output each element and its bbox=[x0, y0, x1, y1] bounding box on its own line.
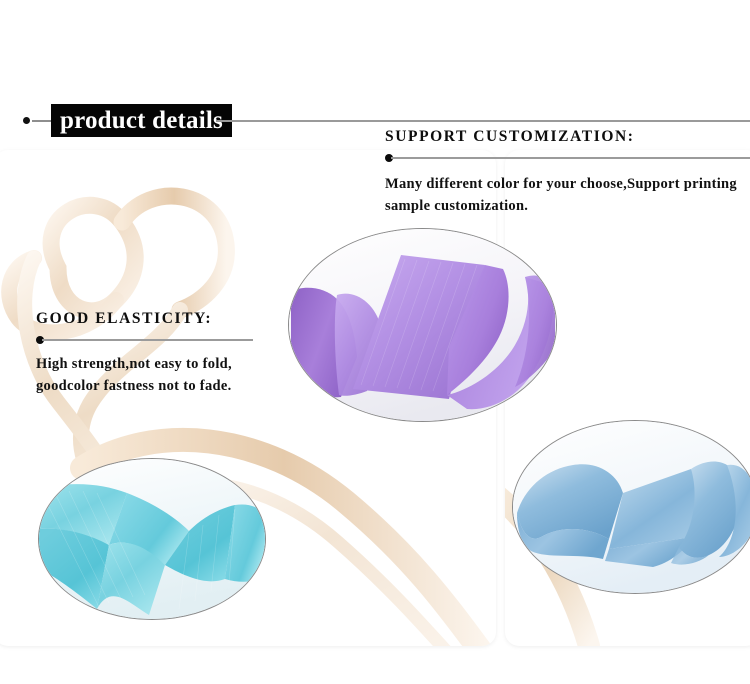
product-details-infographic: product details bbox=[0, 0, 750, 684]
photo-purple-ribbon bbox=[288, 228, 557, 422]
aqua-ribbon-illustration bbox=[39, 459, 265, 619]
feature-block-good-elasticity: GOOD ELASTICITY: High strength,not easy … bbox=[36, 310, 253, 397]
good-elasticity-line-2: goodcolor fastness not to fade. bbox=[36, 375, 253, 397]
photo-blue-ribbon bbox=[512, 420, 750, 594]
support-customization-line-2: sample customization. bbox=[385, 195, 750, 217]
good-elasticity-line-1: High strength,not easy to fold, bbox=[36, 353, 253, 375]
purple-ribbon-illustration bbox=[289, 229, 556, 421]
good-elasticity-divider bbox=[36, 335, 253, 345]
support-customization-line-1: Many different color for your choose,Sup… bbox=[385, 173, 750, 195]
header-rule bbox=[216, 120, 750, 122]
support-customization-title: SUPPORT CUSTOMIZATION: bbox=[385, 128, 750, 146]
feature-block-support-customization: SUPPORT CUSTOMIZATION: Many different co… bbox=[385, 128, 750, 217]
good-elasticity-title: GOOD ELASTICITY: bbox=[36, 310, 253, 328]
blue-ribbon-illustration bbox=[513, 421, 750, 593]
support-customization-divider bbox=[385, 153, 750, 163]
header-bullet-connector bbox=[32, 120, 52, 122]
divider-line bbox=[42, 339, 253, 341]
page-title: product details bbox=[51, 104, 232, 137]
divider-line bbox=[391, 157, 750, 159]
header-bullet-icon bbox=[23, 117, 30, 124]
photo-aqua-ribbon bbox=[38, 458, 266, 620]
